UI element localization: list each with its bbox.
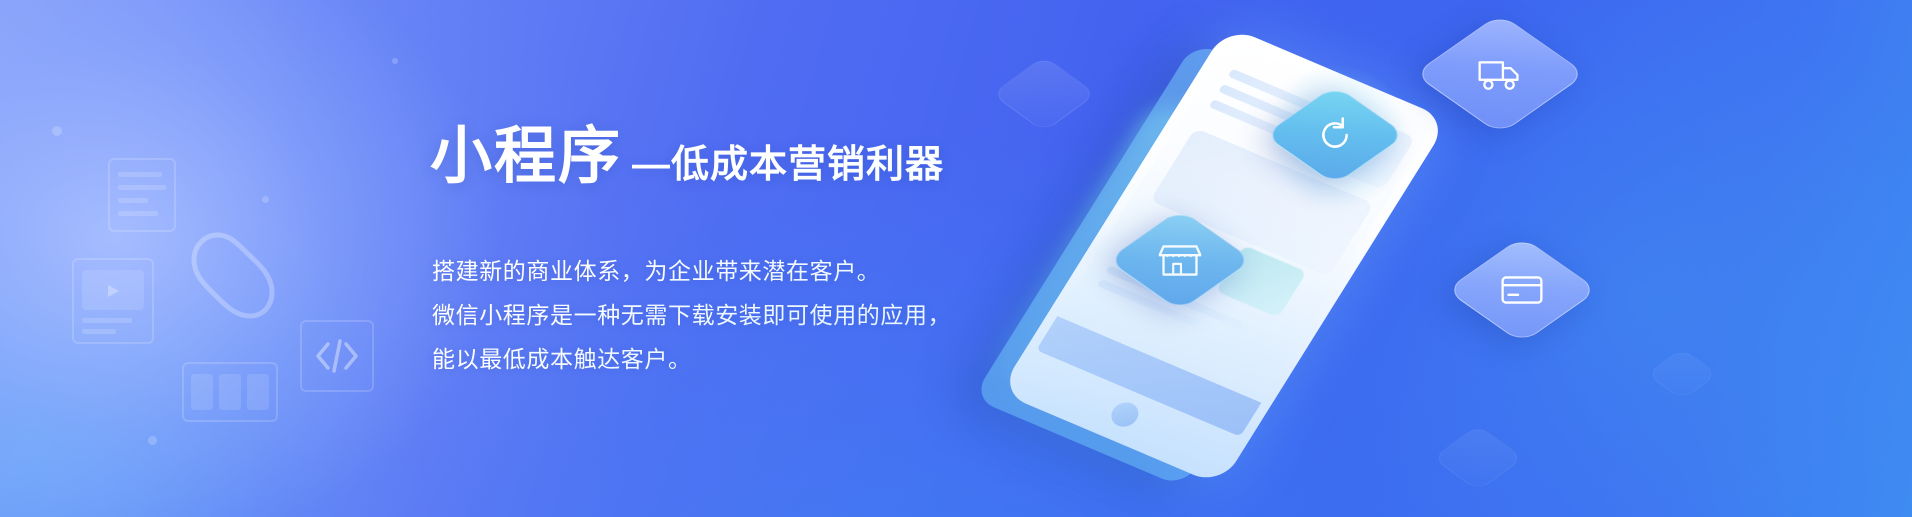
description-line-1: 搭建新的商业体系，为企业带来潜在客户。 [432,249,951,293]
document-card-watermark [108,158,176,232]
page-title: 小程序 [430,126,622,188]
decor-dot [148,436,157,445]
banner-text-content: 小程序 —低成本营销利器 搭建新的商业体系，为企业带来潜在客户。 微信小程序是一… [430,0,1190,517]
description-line-2: 微信小程序是一种无需下载安装即可使用的应用， [432,293,951,337]
decor-dot [262,196,269,203]
code-card-watermark [300,320,374,392]
page-subtitle: —低成本营销利器 [632,146,944,188]
decor-dot [392,58,398,64]
floating-diamond [1646,348,1718,400]
mini-program-logo-watermark [180,215,300,333]
description-line-3: 能以最低成本触达客户。 [432,337,951,381]
list-card-watermark [182,362,278,422]
banner-description: 搭建新的商业体系，为企业带来潜在客户。 微信小程序是一种无需下载安装即可使用的应… [432,249,951,381]
mini-program-promo-banner: 小程序 —低成本营销利器 搭建新的商业体系，为企业带来潜在客户。 微信小程序是一… [0,0,1912,517]
video-card-watermark [72,258,154,344]
banner-heading: 小程序 —低成本营销利器 [430,126,944,188]
decor-dot [52,126,62,136]
